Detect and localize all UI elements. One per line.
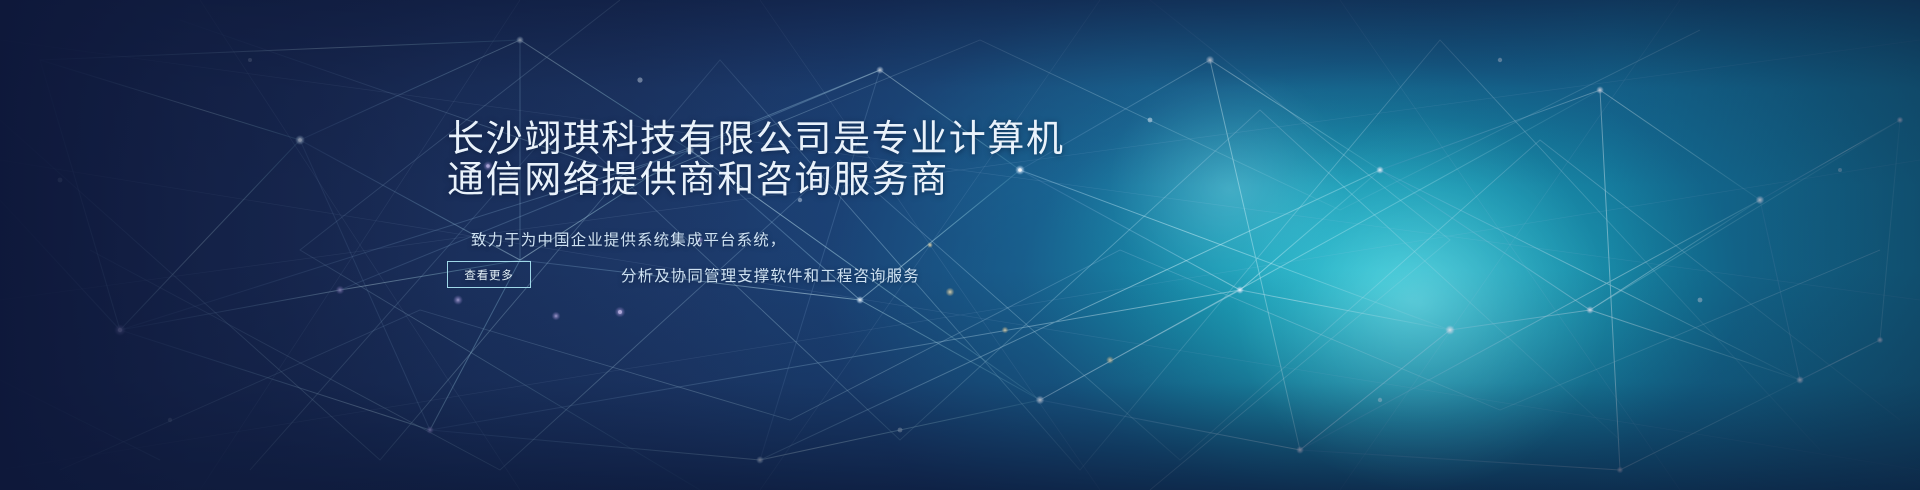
hero-banner: 长沙翊琪科技有限公司是专业计算机 通信网络提供商和咨询服务商 致力于为中国企业提…	[0, 0, 1920, 490]
headline-line-2: 通信网络提供商和咨询服务商	[447, 159, 1347, 200]
headline-line-1: 长沙翊琪科技有限公司是专业计算机	[447, 118, 1347, 159]
subtitle-line-1: 致力于为中国企业提供系统集成平台系统，	[447, 222, 1347, 258]
subtitle-line-2: 分析及协同管理支撑软件和工程咨询服务	[447, 258, 1347, 294]
hero-content: 长沙翊琪科技有限公司是专业计算机 通信网络提供商和咨询服务商 致力于为中国企业提…	[447, 118, 1347, 294]
subtitle-block: 致力于为中国企业提供系统集成平台系统， 分析及协同管理支撑软件和工程咨询服务	[447, 222, 1347, 294]
view-more-button[interactable]: 查看更多	[447, 261, 531, 288]
